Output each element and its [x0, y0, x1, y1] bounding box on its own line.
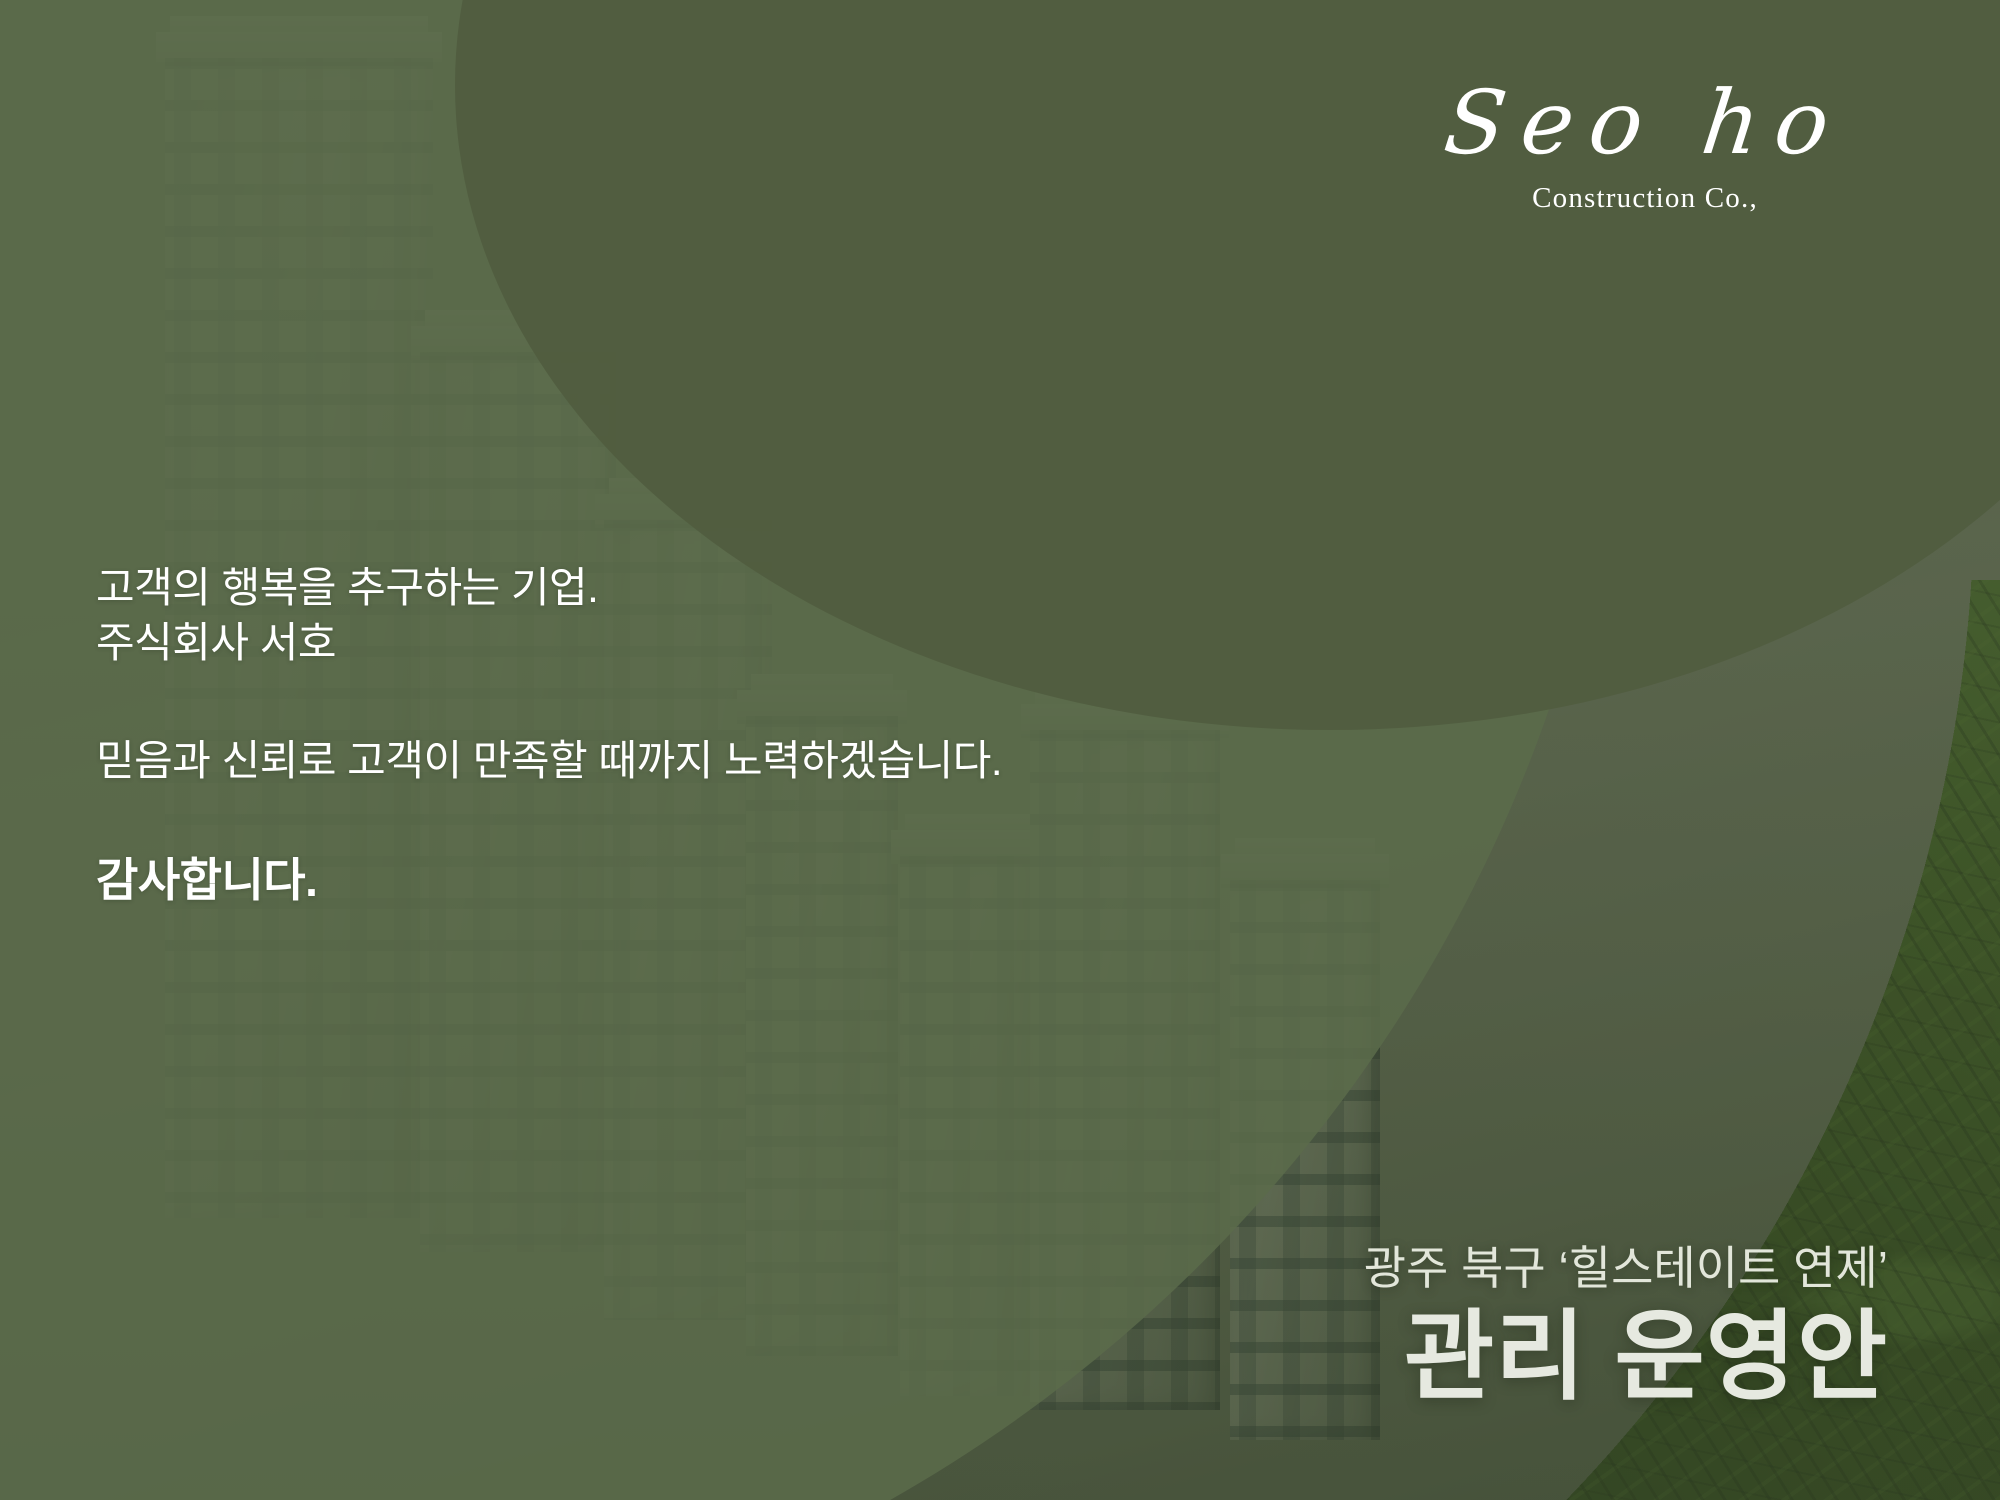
- message-spacer: [96, 788, 1002, 850]
- project-title: 관리 운영안: [1364, 1302, 1888, 1412]
- message-line-2: 주식회사 서호: [96, 615, 1002, 670]
- logo-subtitle: Construction Co.,: [1430, 182, 1860, 215]
- message-line-1: 고객의 행복을 추구하는 기업.: [96, 560, 1002, 615]
- message-thanks: 감사합니다.: [96, 850, 1002, 911]
- company-logo: Seo ho Construction Co.,: [1430, 78, 1860, 215]
- project-title-block: 광주 북구 ‘힐스테이트 연제’ 관리 운영안: [1364, 1241, 1888, 1412]
- logo-wordmark: Seo ho: [1424, 78, 1865, 168]
- presentation-slide: Seo ho Construction Co., 고객의 행복을 추구하는 기업…: [0, 0, 2000, 1500]
- message-statement: 믿음과 신뢰로 고객이 만족할 때까지 노력하겠습니다.: [96, 733, 1002, 788]
- closing-message: 고객의 행복을 추구하는 기업. 주식회사 서호 믿음과 신뢰로 고객이 만족할…: [96, 560, 1002, 911]
- message-spacer: [96, 671, 1002, 733]
- project-location-label: 광주 북구 ‘힐스테이트 연제’: [1364, 1241, 1888, 1296]
